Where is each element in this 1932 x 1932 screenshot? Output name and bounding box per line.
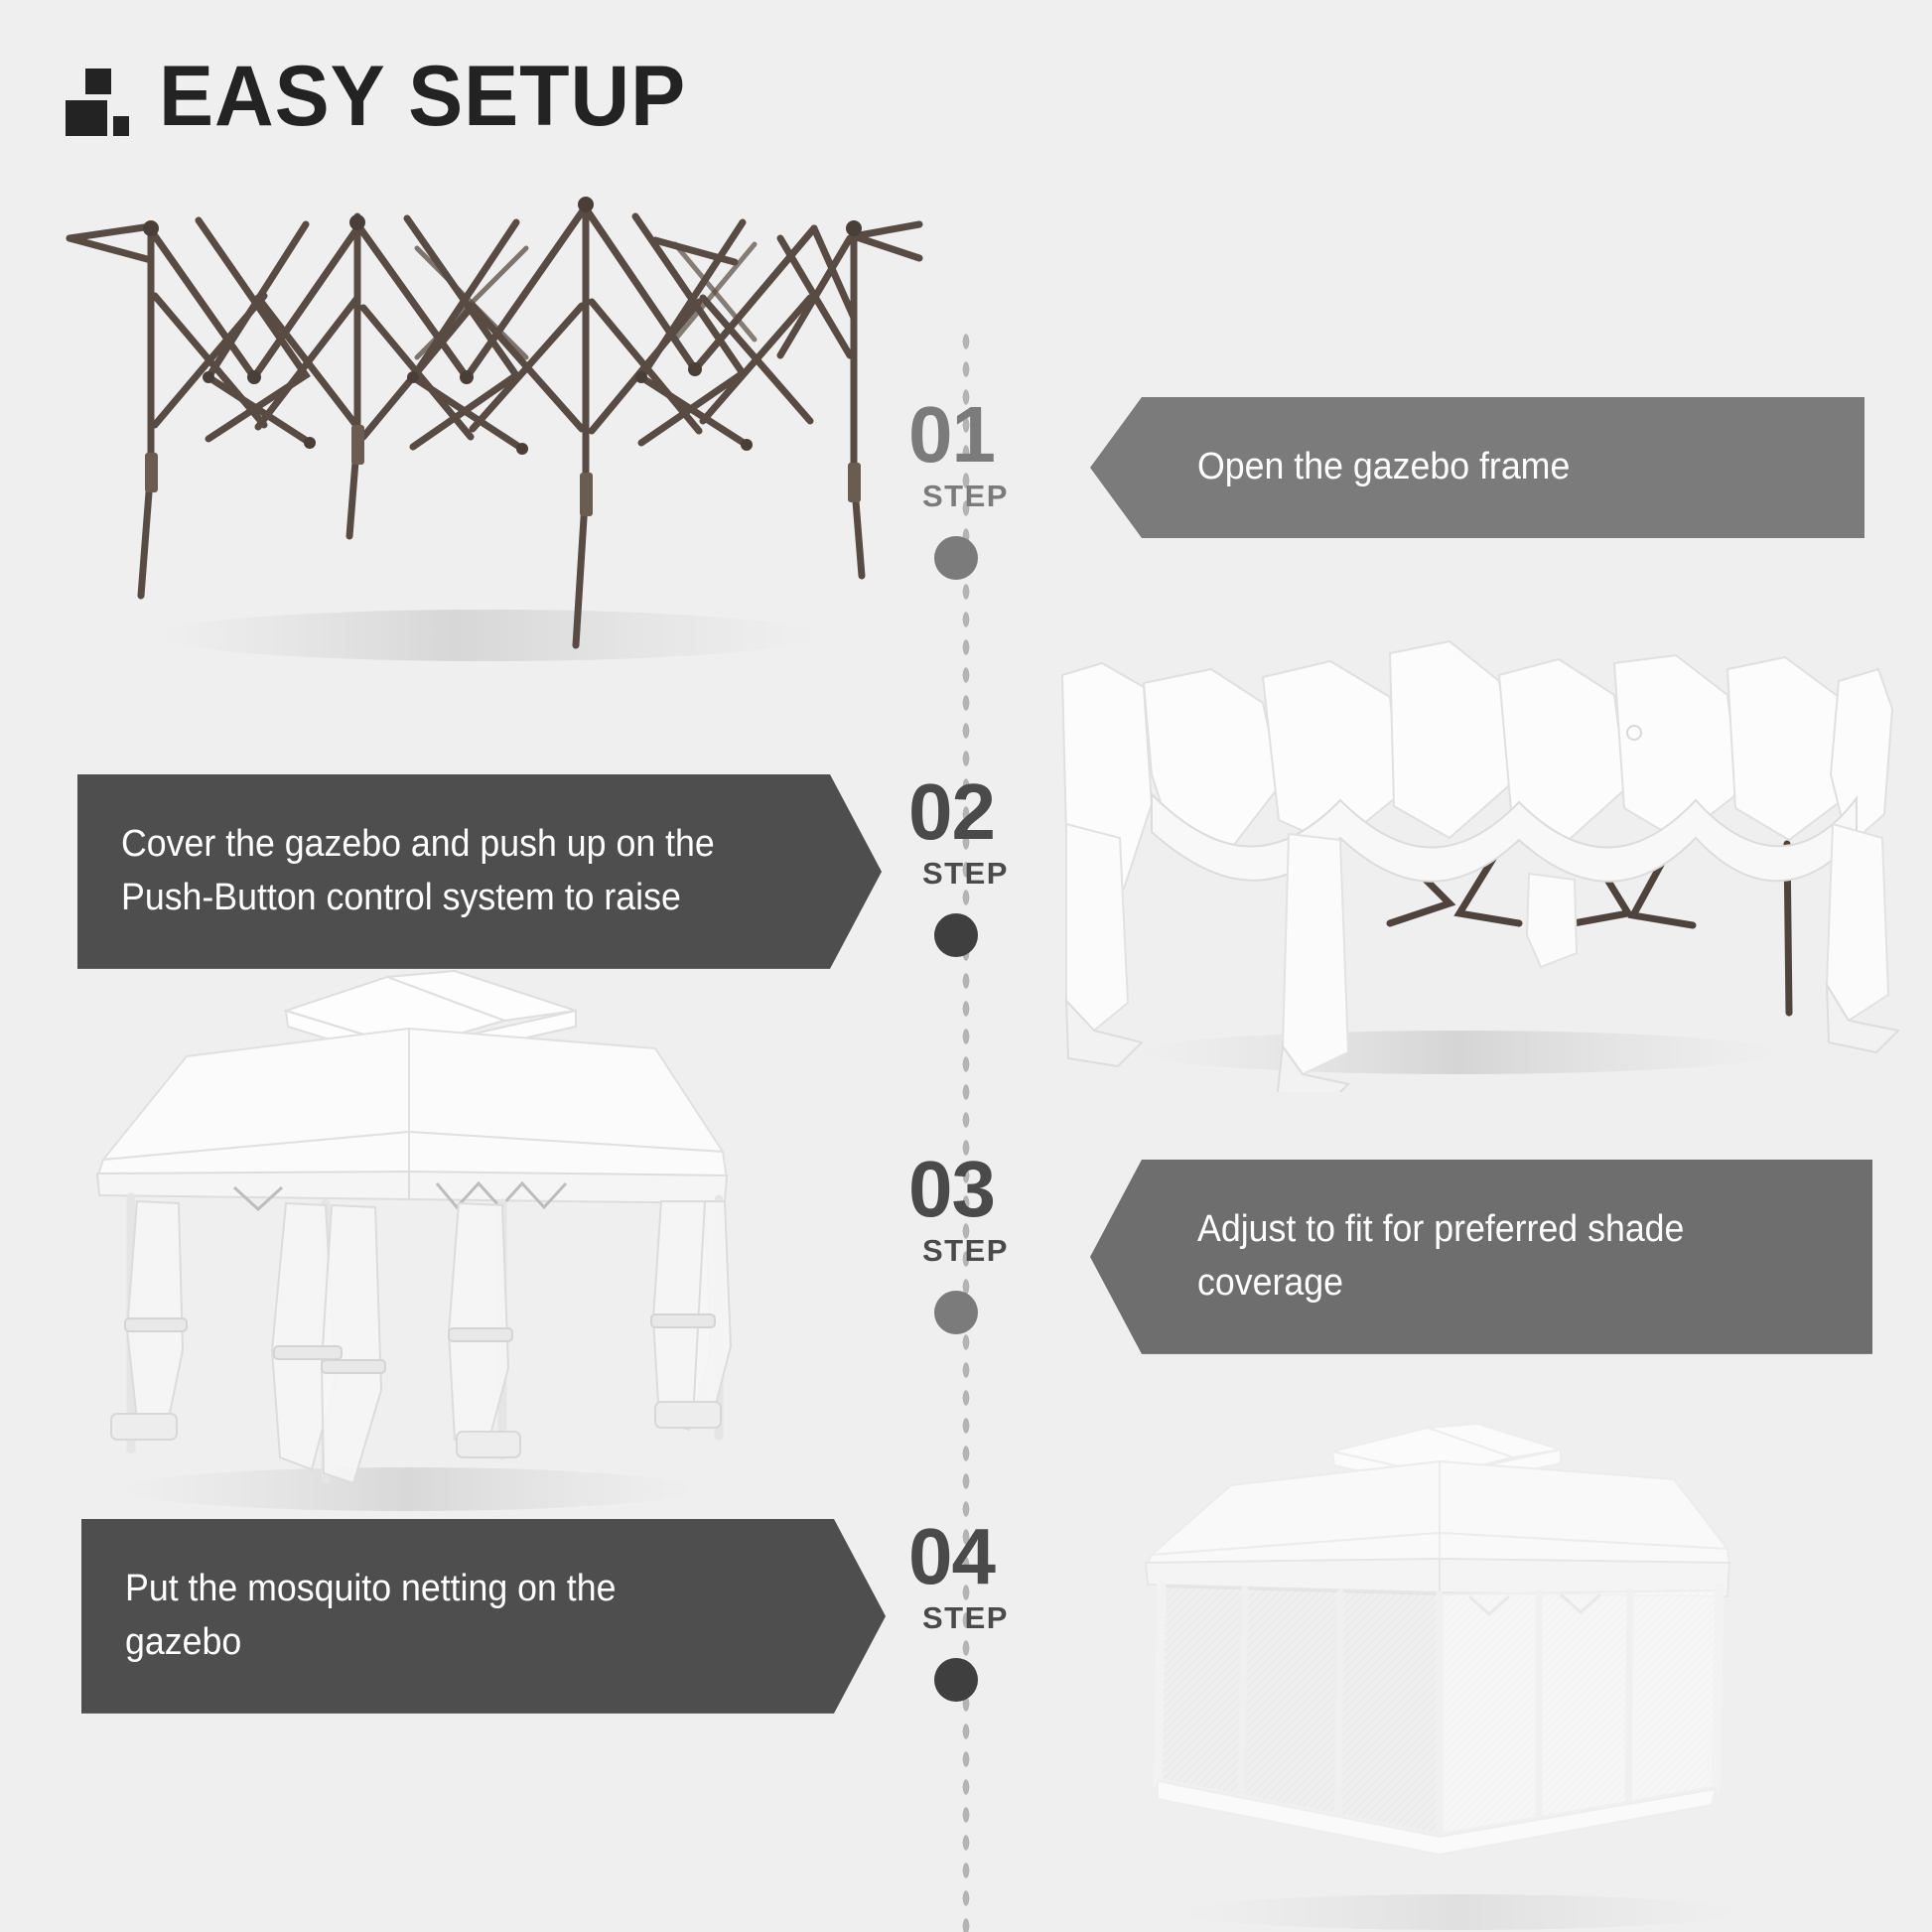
step-callout-text-01: Open the gazebo frame: [1197, 441, 1570, 494]
logo-square-small: [113, 116, 129, 136]
step-number-02: 02: [908, 774, 1186, 850]
easy-setup-infographic: EASY SETUP: [0, 0, 1932, 1932]
step-callout-02[interactable]: Cover the gazebo and push up on the Push…: [77, 774, 882, 969]
step-bullet-02: [934, 913, 978, 957]
step-callout-text-03: Adjust to fit for preferred shade covera…: [1197, 1203, 1795, 1311]
gazebo-raised-with-curtains-photo: [60, 953, 774, 1529]
step-bullet-01: [934, 536, 978, 580]
step-callout-text-04: Put the mosquito netting on the gazebo: [125, 1563, 740, 1670]
logo-square-large: [66, 100, 107, 136]
step-label-02: STEP: [922, 856, 1186, 892]
step-callout-text-02: Cover the gazebo and push up on the Push…: [121, 818, 715, 925]
page-title: EASY SETUP: [159, 58, 686, 136]
three-squares-logo-icon: [64, 59, 129, 136]
gazebo-with-mosquito-netting-photo: [1112, 1410, 1807, 1932]
step-bullet-04: [934, 1658, 978, 1702]
step-callout-03[interactable]: Adjust to fit for preferred shade covera…: [1090, 1160, 1872, 1354]
step-marker-02: 02 STEP: [908, 774, 1186, 957]
page-header: EASY SETUP: [64, 58, 708, 136]
step-callout-01[interactable]: Open the gazebo frame: [1090, 397, 1864, 538]
logo-square-top: [85, 69, 111, 94]
step-bullet-03: [934, 1291, 978, 1334]
gazebo-frame-open-photo: [60, 179, 933, 675]
step-callout-04[interactable]: Put the mosquito netting on the gazebo: [81, 1519, 886, 1714]
